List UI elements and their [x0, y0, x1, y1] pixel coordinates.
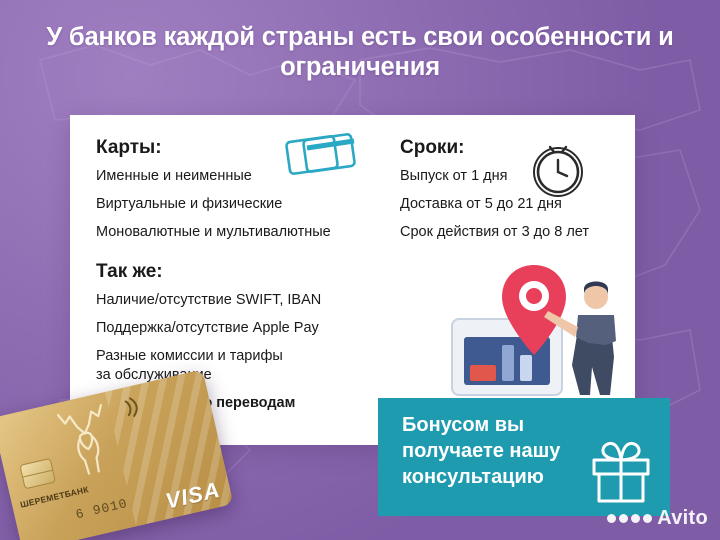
card-number: 6 9010: [74, 496, 129, 522]
list-item: Срок действия от 3 до 8 лет: [400, 224, 625, 241]
card-right-column: Сроки: Выпуск от 1 дня Доставка от 5 до …: [400, 137, 625, 252]
chip-icon: [19, 458, 56, 490]
credit-cards-icon: [285, 127, 359, 179]
section-title-also: Так же:: [96, 261, 396, 283]
bonus-text: Бонусом вы получаете нашу консультацию: [402, 412, 587, 490]
list-item: Наличие/отсутствие SWIFT, IBAN: [96, 292, 396, 309]
list-item: за обслуживание: [96, 367, 396, 384]
avito-watermark: Avito: [607, 507, 708, 530]
list-item: Выпуск от 1 дня: [400, 168, 625, 185]
clock-icon: [530, 143, 586, 199]
avito-wordmark: Avito: [657, 507, 708, 530]
avito-dots-icon: [607, 514, 652, 523]
poster-root: У банков каждой страны есть свои особенн…: [0, 0, 720, 540]
section-title-terms: Сроки:: [400, 137, 625, 159]
card-left-column: Карты: Именные и неименные Виртуальные и…: [96, 137, 396, 423]
headline: У банков каждой страны есть свои особенн…: [0, 22, 720, 82]
location-pin-illustration: [430, 245, 640, 415]
bonus-box: Бонусом вы получаете нашу консультацию: [378, 398, 670, 516]
list-item: Виртуальные и физические: [96, 196, 396, 213]
list-item: Доставка от 5 до 21 дня: [400, 196, 625, 213]
gift-icon: [588, 434, 654, 504]
list-item: Разные комиссии и тарифы: [96, 348, 396, 365]
list-item: Поддержка/отсутствие Apple Pay: [96, 320, 396, 337]
list-item: Моновалютные и мультивалютные: [96, 224, 396, 241]
